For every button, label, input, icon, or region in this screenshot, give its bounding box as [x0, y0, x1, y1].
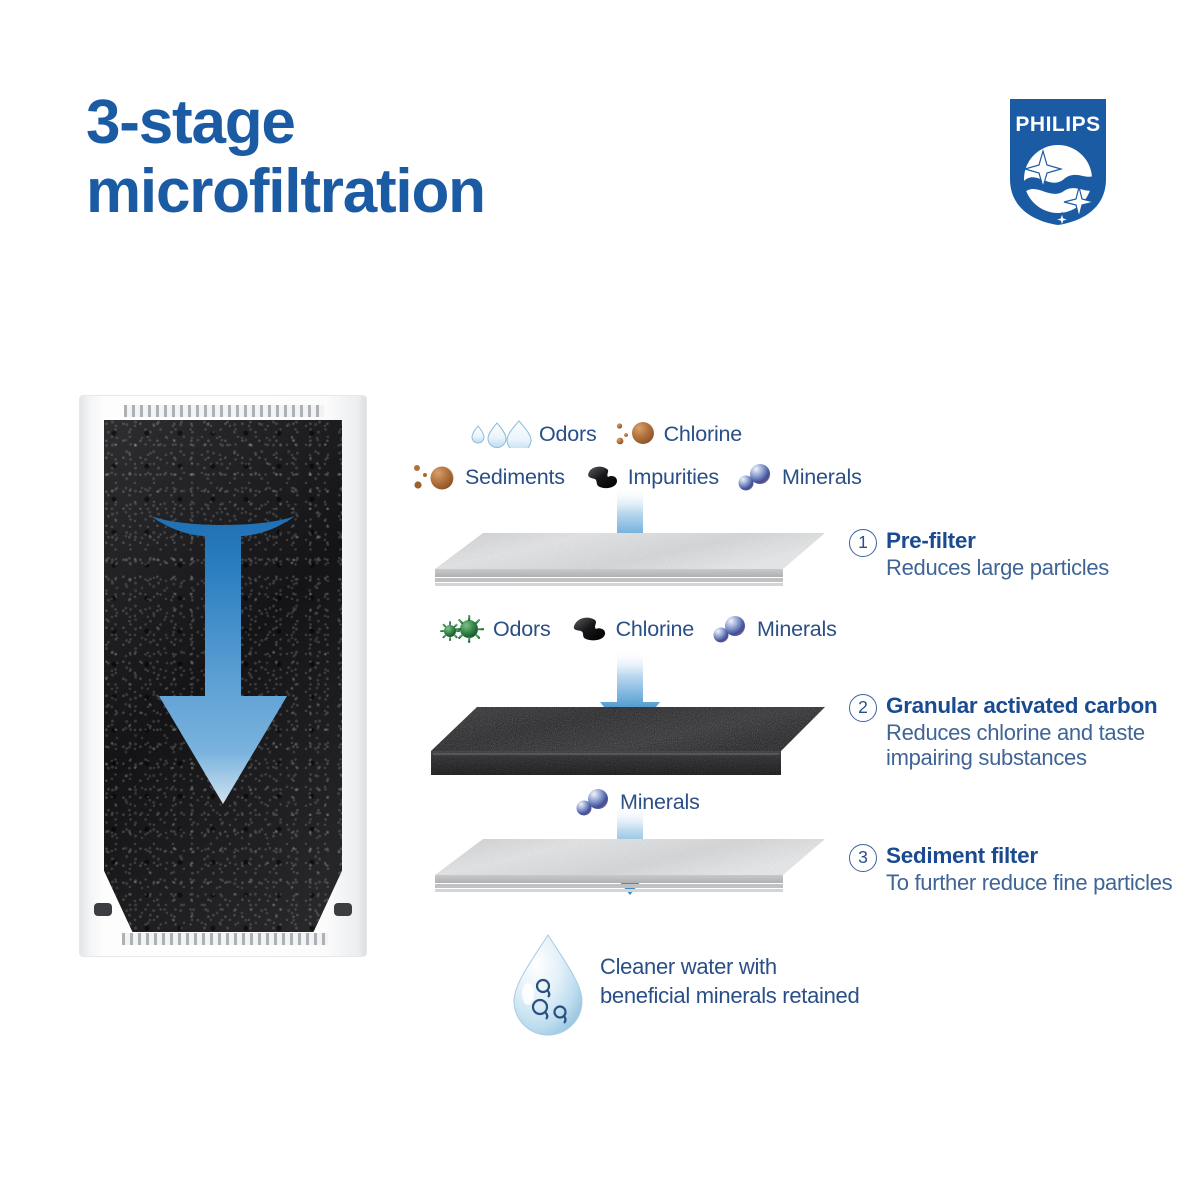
chip-label: Sediments: [465, 465, 565, 490]
stage-3-filter-slab: [425, 825, 825, 902]
blue-spheres-icon: [737, 462, 775, 492]
stage-1-title: Pre-filter: [886, 528, 1109, 554]
contaminant-row-3: Odors Chlorine Minerals: [440, 613, 837, 645]
green-microbe-icon: [440, 613, 486, 645]
chip-chlorine-sphere: Chlorine: [615, 419, 742, 449]
chip-label: Impurities: [628, 465, 719, 490]
chip-minerals: Minerals: [737, 462, 862, 492]
stage-2-description-line-1: Reduces chlorine and taste: [886, 720, 1157, 745]
stage-2-number: 2: [849, 694, 877, 722]
filtration-diagram: Odors: [0, 0, 1200, 1200]
chip-label: Chlorine: [664, 422, 742, 447]
stage-1-number: 1: [849, 529, 877, 557]
stage-2-text: 2 Granular activated carbon Reduces chlo…: [849, 693, 1157, 771]
chip-label: Minerals: [757, 617, 837, 642]
water-drops-icon: [470, 420, 532, 448]
stage-3-title: Sediment filter: [886, 843, 1172, 869]
black-blob-icon: [569, 614, 609, 644]
water-drop-with-bubbles-icon: [500, 932, 596, 1044]
stage-2-carbon-slab: [425, 693, 825, 788]
chip-label: Chlorine: [616, 617, 694, 642]
chip-minerals: Minerals: [712, 614, 837, 644]
result-line-2: beneficial minerals retained: [600, 982, 859, 1011]
stage-1-filter-slab: [425, 519, 825, 596]
stage-1-description: Reduces large particles: [886, 555, 1109, 580]
contaminant-row-1: Odors: [470, 419, 742, 449]
chip-label: Odors: [493, 617, 551, 642]
chip-label: Minerals: [782, 465, 862, 490]
stage-2-description-line-2: impairing substances: [886, 745, 1157, 770]
stage-3-number: 3: [849, 844, 877, 872]
stage-3-text: 3 Sediment filter To further reduce fine…: [849, 843, 1172, 895]
brown-sphere-icon: [615, 419, 657, 449]
stage-1-text: 1 Pre-filter Reduces large particles: [849, 528, 1109, 580]
chip-label: Odors: [539, 422, 597, 447]
chip-chlorine-blob: Chlorine: [569, 614, 694, 644]
result-line-1: Cleaner water with: [600, 953, 859, 982]
brown-particles-icon: [412, 461, 458, 493]
result-text: Cleaner water with beneficial minerals r…: [600, 953, 859, 1010]
stage-3-description: To further reduce fine particles: [886, 870, 1172, 895]
stage-2-title: Granular activated carbon: [886, 693, 1157, 719]
chip-sediments: Sediments: [412, 461, 565, 493]
chip-odors-microbes: Odors: [440, 613, 551, 645]
blue-spheres-icon: [712, 614, 750, 644]
chip-odors-drops: Odors: [470, 420, 597, 448]
